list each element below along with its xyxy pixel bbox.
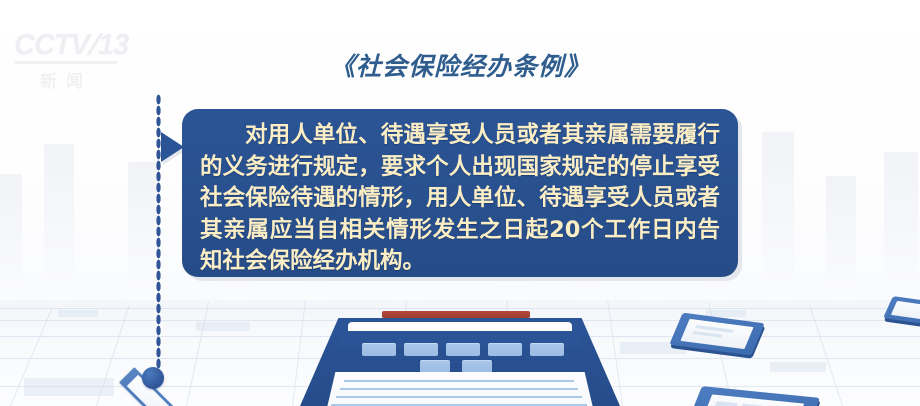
triangle-right-icon [161,132,184,162]
document-header-block [462,360,492,373]
document-text-line [344,380,574,382]
callout-body-text: 对用人单位、待遇享受人员或者其亲属需要履行的义务进行规定，要求个人出现国家规定的… [200,120,720,278]
document-header-block [446,343,480,356]
background-bar [826,176,856,302]
document-text-line [336,396,582,398]
background-bar [0,174,22,302]
document-with-text-lines-icon [300,306,620,406]
document-page-area [326,372,594,406]
floor-tile-accent [24,378,114,396]
panel-detail-line [693,331,723,338]
document-red-top-bar [382,311,530,318]
marker-dot [142,367,164,389]
floor-tile-accent [196,322,250,331]
document-header-block [530,343,564,356]
document-white-notch [348,322,572,331]
page-title: 《社会保险经办条例》 [0,47,920,83]
document-header-block [404,343,438,356]
circle-marker-on-platform-icon [118,362,202,396]
background-bar [44,144,74,302]
floor-tile-accent [58,310,98,317]
document-text-line [340,388,578,390]
floor-tile-accent [770,362,826,372]
background-bar [762,132,794,302]
broadcast-graphic-stage: CCTV/13 新闻 《社会保险经办条例》 对用人单位、待遇享受人员或者其亲属需… [0,0,920,406]
document-header-block [488,343,522,356]
panel-detail-line [713,401,737,406]
background-bar [884,152,918,302]
callout-bubble: 对用人单位、待遇享受人员或者其亲属需要履行的义务进行规定，要求个人出现国家规定的… [182,109,738,277]
document-header-block [420,360,450,373]
document-header-block [362,343,396,356]
